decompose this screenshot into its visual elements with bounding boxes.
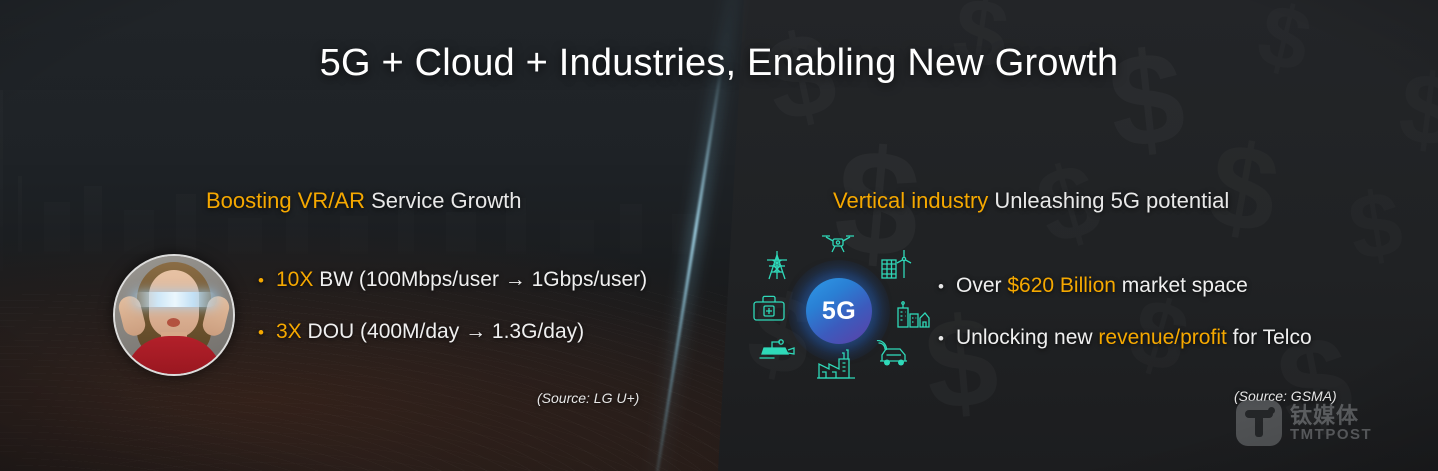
list-item-text: Over $620 Billion market space: [956, 274, 1248, 298]
list-item: • Over $620 Billion market space: [938, 274, 1312, 298]
bullet-dot-icon: •: [938, 330, 956, 347]
list-item: • Unlocking new revenue/profit for Telco: [938, 326, 1312, 350]
bullet-pre: Unlocking new: [956, 326, 1098, 349]
bullet-rest: BW (100Mbps/user → 1Gbps/user): [313, 268, 647, 291]
left-source-note: (Source: LG U+): [537, 390, 639, 406]
skyline-building: [44, 202, 70, 254]
bullet-post: for Telco: [1227, 326, 1312, 349]
right-column-heading: Vertical industry Unleashing 5G potentia…: [833, 188, 1229, 214]
list-item-text: 10X BW (100Mbps/user → 1Gbps/user): [276, 268, 647, 292]
5g-ecosystem-graphic: 5G: [752, 232, 932, 388]
tmtpost-wordmark: 钛媒体 TMTPOST: [1290, 404, 1372, 443]
power-tower-icon: [764, 250, 790, 280]
skyline-building: [124, 210, 154, 254]
list-item-text: Unlocking new revenue/profit for Telco: [956, 326, 1312, 350]
tmtpost-english-name: TMTPOST: [1290, 427, 1372, 443]
slide-canvas: $$$$$$$$$$$$$ 5G + Cloud + Industries, E…: [0, 0, 1438, 471]
left-bullet-list: • 10X BW (100Mbps/user → 1Gbps/user) • 3…: [258, 268, 647, 344]
bullet-rest: DOU (400M/day → 1.3G/day): [302, 320, 584, 343]
bullet-highlight: revenue/profit: [1098, 326, 1226, 349]
list-item: • 3X DOU (400M/day → 1.3G/day): [258, 320, 647, 344]
tmtpost-logo-dot: [1268, 407, 1275, 414]
photo-lips: [167, 318, 180, 327]
bullet-highlight: 10X: [276, 268, 313, 291]
bullet-highlight: 3X: [276, 320, 302, 343]
left-heading-rest: Service Growth: [365, 188, 522, 213]
security-camera-icon: [758, 336, 796, 362]
list-item: • 10X BW (100Mbps/user → 1Gbps/user): [258, 268, 647, 292]
bullet-post: market space: [1116, 274, 1248, 297]
skyline-building: [84, 186, 102, 254]
left-heading-highlight: Boosting VR/AR: [206, 188, 365, 213]
skyline-building: [176, 194, 196, 254]
smart-city-icon: [896, 300, 930, 328]
5g-core-label: 5G: [822, 299, 856, 324]
bullet-dot-icon: •: [938, 278, 956, 295]
drone-icon: [821, 232, 855, 254]
bullet-dot-icon: •: [258, 272, 276, 289]
dollar-sign-glyph: $: [1343, 177, 1408, 276]
right-heading-rest: Unleashing 5G potential: [988, 188, 1229, 213]
wind-turbine-icon: [880, 248, 912, 280]
tmtpost-chinese-name: 钛媒体: [1290, 404, 1372, 427]
5g-core-badge: 5G: [806, 278, 872, 344]
bullet-highlight: $620 Billion: [1007, 274, 1116, 297]
bullet-dot-icon: •: [258, 324, 276, 341]
tmtpost-logo-icon: [1236, 400, 1282, 446]
vr-ar-user-photo: [113, 254, 235, 376]
skyline-building: [620, 204, 642, 254]
list-item-text: 3X DOU (400M/day → 1.3G/day): [276, 320, 584, 344]
right-bullet-list: • Over $620 Billion market space • Unloc…: [938, 274, 1312, 350]
page-title: 5G + Cloud + Industries, Enabling New Gr…: [0, 42, 1438, 85]
skyline-building: [340, 216, 368, 254]
skyline-building: [560, 220, 594, 254]
left-column-heading: Boosting VR/AR Service Growth: [206, 188, 521, 214]
right-heading-highlight: Vertical industry: [833, 188, 988, 213]
skyline-building: [446, 212, 476, 254]
tmtpost-watermark: 钛媒体 TMTPOST: [1236, 400, 1372, 446]
ar-glasses-visor: [133, 292, 217, 307]
medical-kit-icon: [752, 294, 786, 322]
bullet-pre: Over: [956, 274, 1007, 297]
skyline-building: [228, 218, 262, 254]
connected-car-icon: [874, 340, 912, 368]
skyline-building: [18, 176, 22, 252]
factory-icon: [816, 348, 856, 380]
